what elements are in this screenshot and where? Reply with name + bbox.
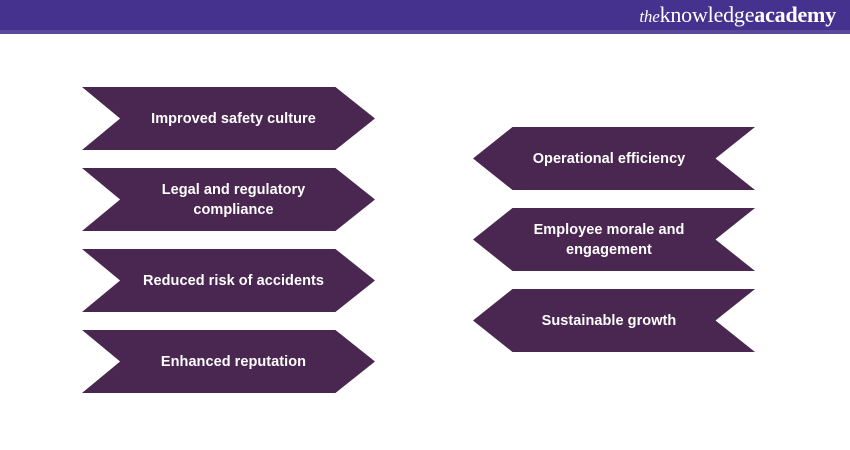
chevron-label: Reduced risk of accidents bbox=[143, 271, 324, 291]
brand-logo-the: the bbox=[639, 7, 659, 26]
chevron-item: Enhanced reputation bbox=[82, 330, 375, 393]
chevron-item: Operational efficiency bbox=[473, 127, 755, 190]
chevron-diagram: Improved safety culture Legal and regula… bbox=[0, 34, 850, 450]
chevron-item: Legal and regulatory compliance bbox=[82, 168, 375, 231]
chevron-item: Improved safety culture bbox=[82, 87, 375, 150]
chevron-item: Sustainable growth bbox=[473, 289, 755, 352]
chevron-item: Reduced risk of accidents bbox=[82, 249, 375, 312]
chevron-label: Operational efficiency bbox=[533, 149, 686, 169]
brand-logo-academy: academy bbox=[754, 2, 836, 27]
brand-logo: theknowledgeacademy bbox=[639, 4, 836, 26]
chevron-label: Employee morale and engagement bbox=[534, 220, 685, 260]
chevron-label: Sustainable growth bbox=[542, 311, 677, 331]
header-bar: theknowledgeacademy bbox=[0, 0, 850, 30]
chevron-item: Employee morale and engagement bbox=[473, 208, 755, 271]
chevron-label: Enhanced reputation bbox=[161, 352, 306, 372]
chevron-label: Improved safety culture bbox=[151, 109, 316, 129]
chevron-column-left: Improved safety culture Legal and regula… bbox=[82, 87, 375, 393]
brand-logo-knowledge: knowledge bbox=[660, 2, 755, 27]
chevron-label: Legal and regulatory compliance bbox=[162, 180, 306, 220]
chevron-column-right: Operational efficiency Employee morale a… bbox=[473, 127, 755, 352]
